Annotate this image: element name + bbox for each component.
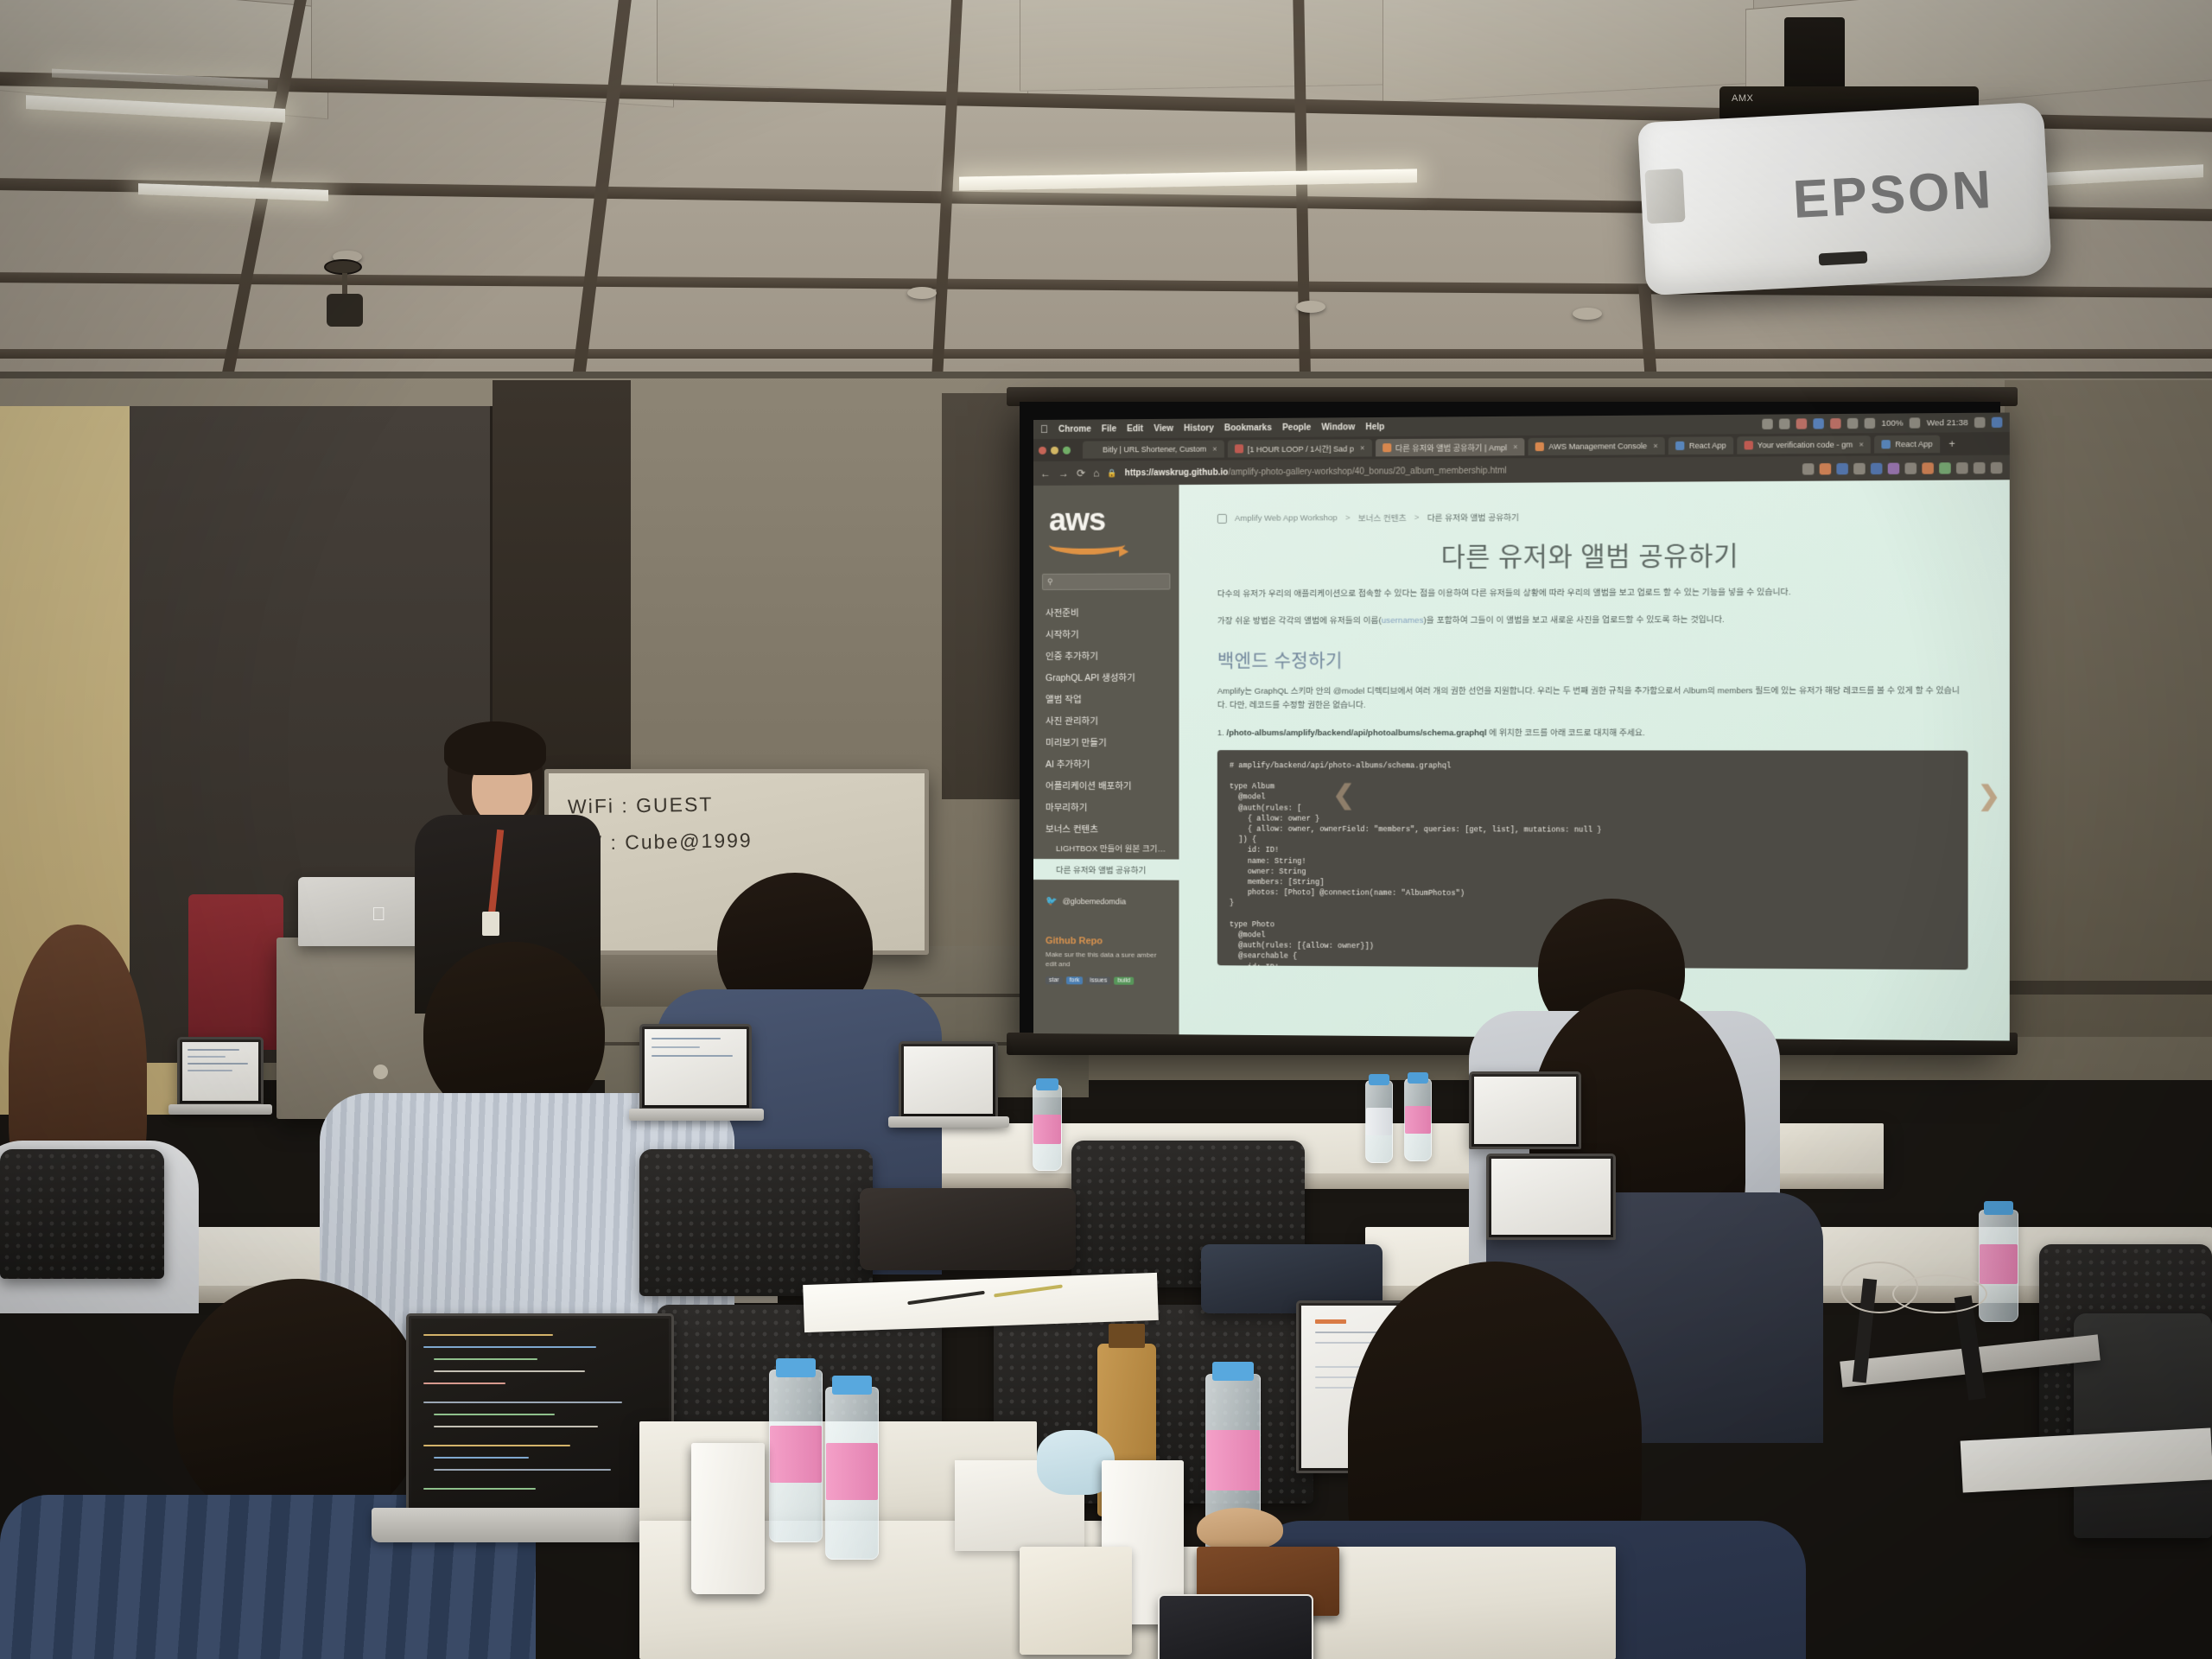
screen-text-line	[652, 1038, 721, 1039]
screen-text-line	[188, 1070, 232, 1071]
menu-bookmarks[interactable]: Bookmarks	[1224, 423, 1272, 432]
sidebar-item-wrap-up[interactable]: 마무리하기	[1033, 797, 1179, 818]
menu-history[interactable]: History	[1184, 423, 1214, 433]
aws-favicon	[1535, 442, 1544, 451]
browser-tab[interactable]: [1 HOUR LOOP / 1시간] Sad p ×	[1228, 439, 1372, 457]
bookmark-star-icon[interactable]	[1802, 463, 1814, 474]
paper-cup	[691, 1443, 765, 1594]
close-tab-button[interactable]: ×	[1360, 443, 1364, 452]
aws-logo[interactable]: aws	[1033, 493, 1179, 563]
bottle-cap	[776, 1358, 816, 1377]
extension-toolbar	[1802, 461, 2002, 474]
sidebar-item-prep[interactable]: 사전준비	[1033, 602, 1179, 625]
screen-text-line	[423, 1488, 536, 1490]
docs-sidebar[interactable]: aws ⚲ 사전준비 시작하기 인증 추가하기 GraphQL API 생성하기…	[1033, 485, 1179, 1034]
browser-tab[interactable]: Bitly | URL Shortener, Custom ×	[1083, 440, 1224, 458]
badge-fork[interactable]: fork	[1066, 976, 1084, 984]
home-button[interactable]: ⌂	[1093, 467, 1099, 480]
extension-icon[interactable]	[1871, 462, 1883, 474]
ceiling-sensor	[327, 294, 363, 327]
bottle-label	[826, 1443, 878, 1500]
tab-label: 다른 유저와 앨범 공유하기 | Ampl	[1395, 442, 1507, 454]
tab-label: [1 HOUR LOOP / 1시간] Sad p	[1248, 442, 1354, 454]
laptop-screen	[904, 1046, 993, 1114]
sidebar-item-create-preview[interactable]: 미리보기 만들기	[1033, 732, 1179, 753]
bottle-cap	[1984, 1201, 2013, 1215]
control-center-icon[interactable]	[1992, 417, 2003, 428]
bitly-favicon	[1090, 445, 1098, 454]
sidebar-item-add-ai[interactable]: AI 추가하기	[1033, 753, 1179, 775]
wall-trim	[1987, 981, 2212, 995]
bottle-cap	[1408, 1072, 1428, 1084]
menu-file[interactable]: File	[1102, 424, 1116, 434]
breadcrumb-separator: >	[1345, 513, 1351, 523]
tab-label: AWS Management Console	[1548, 442, 1647, 451]
laptop-base	[888, 1116, 1009, 1128]
sidebar-twitter-link[interactable]: 🐦 @globemedomdia	[1033, 895, 1179, 907]
reload-button[interactable]: ⟳	[1077, 467, 1085, 480]
tab-label: React App	[1895, 440, 1932, 449]
forward-button[interactable]: →	[1058, 467, 1069, 480]
webpage-body: aws ⚲ 사전준비 시작하기 인증 추가하기 GraphQL API 생성하기…	[1033, 480, 2010, 1040]
bottle-label	[1033, 1115, 1061, 1144]
browser-tab[interactable]: AWS Management Console ×	[1529, 437, 1665, 455]
mail-favicon	[1744, 441, 1752, 449]
breadcrumb-root[interactable]: Amplify Web App Workshop	[1235, 513, 1338, 524]
classroom-scene: AMX EPSON  Chrome File Edit View Histor…	[0, 0, 2212, 1659]
twitter-handle: @globemedomdia	[1063, 897, 1126, 906]
laptop-screen	[1491, 1159, 1611, 1235]
bottle-label	[770, 1426, 822, 1483]
badge-star[interactable]: star	[1046, 976, 1063, 984]
menu-view[interactable]: View	[1154, 423, 1173, 433]
maximize-window-button[interactable]	[1063, 446, 1071, 454]
screen-text-line	[188, 1049, 239, 1051]
menu-people[interactable]: People	[1282, 423, 1311, 432]
bottle-cap	[1212, 1362, 1254, 1381]
breadcrumb-parent[interactable]: 보너스 컨텐츠	[1358, 512, 1407, 524]
smoke-detector-icon	[1296, 301, 1325, 313]
breadcrumb-current: 다른 유저와 앨범 공유하기	[1427, 511, 1519, 524]
app-status-icon[interactable]	[1813, 418, 1823, 429]
projected-browser-window[interactable]:  Chrome File Edit View History Bookmark…	[1033, 412, 2010, 1040]
screen-text-line	[188, 1056, 226, 1058]
wall-trim	[0, 372, 2212, 378]
laptop	[1469, 1071, 1581, 1149]
screen-text-line	[423, 1346, 596, 1348]
projector-lens	[1644, 168, 1685, 224]
browser-tab[interactable]: React App	[1874, 435, 1940, 454]
sidebar-nav[interactable]: 사전준비 시작하기 인증 추가하기 GraphQL API 생성하기 앨범 작업…	[1033, 599, 1179, 880]
sidebar-repo-badges: star fork issues build	[1033, 976, 1179, 985]
apple-logo-icon[interactable]: 	[1040, 423, 1048, 435]
extension-icon[interactable]	[1853, 462, 1866, 474]
badge-issues[interactable]: issues	[1086, 976, 1110, 984]
projector-mount-brand: AMX	[1732, 93, 1753, 104]
laptop	[899, 1041, 998, 1119]
projector-brand-label: EPSON	[1791, 159, 1994, 231]
step-file-path: /photo-albums/amplify/backend/api/photoa…	[1226, 728, 1486, 738]
screen-text-line	[423, 1402, 622, 1403]
podium-knob	[373, 1065, 388, 1079]
step-number: 1.	[1217, 728, 1227, 738]
screen-text-line	[434, 1457, 529, 1459]
youtube-favicon	[1235, 444, 1243, 453]
lock-icon: 🔒	[1107, 468, 1116, 478]
chrome-menu-icon[interactable]	[1991, 461, 2003, 473]
projector-mount	[1784, 17, 1845, 92]
tab-label: Your verification code - gm	[1758, 440, 1853, 449]
sidebar-item-album-work[interactable]: 앨범 작업	[1033, 689, 1179, 710]
apple-logo-icon: 	[372, 903, 386, 925]
close-tab-button[interactable]: ×	[1653, 442, 1657, 450]
breadcrumb[interactable]: Amplify Web App Workshop > 보너스 컨텐츠 > 다른 …	[1217, 508, 1968, 524]
bottle-cap	[832, 1376, 872, 1395]
recording-icon[interactable]	[1830, 418, 1840, 429]
screen-text-line	[652, 1046, 700, 1048]
screen-text-line	[434, 1370, 585, 1372]
screen-text-line	[423, 1382, 505, 1384]
sidebar-item-lightbox[interactable]: LIGHTBOX 만들어 원본 크기의 사진 보기	[1033, 840, 1179, 859]
extension-icon[interactable]	[1922, 462, 1934, 474]
laptop	[639, 1024, 752, 1110]
extension-icon[interactable]	[1888, 462, 1900, 474]
laptop-screen	[645, 1029, 747, 1105]
search-icon[interactable]	[1974, 417, 1986, 428]
sidebar-search-input[interactable]: ⚲	[1042, 574, 1170, 591]
attendee-head	[173, 1279, 423, 1529]
menu-bar-status-items: 100% Wed 21:38	[1762, 417, 2002, 429]
smoke-detector-icon	[907, 287, 937, 299]
close-tab-button[interactable]: ×	[1513, 442, 1517, 451]
ceiling-tile	[1020, 0, 1391, 92]
window-controls[interactable]	[1039, 446, 1071, 454]
laptop-screen	[182, 1042, 258, 1101]
menu-chrome[interactable]: Chrome	[1058, 424, 1091, 434]
red-chair	[188, 894, 283, 1050]
laptop[interactable]	[406, 1313, 674, 1512]
intro-paragraph-1: 다수의 유저가 우리의 애플리케이션으로 접속할 수 있다는 점을 이용하여 다…	[1217, 586, 1968, 601]
aws-smile-icon	[1049, 536, 1125, 555]
paragraph-pre: 가장 쉬운 방법은 각각의 앨범에 유저들의 이름(	[1217, 616, 1382, 626]
aws-logo-text: aws	[1049, 505, 1179, 534]
alfred-icon[interactable]	[1796, 418, 1807, 429]
cable-coil	[1892, 1274, 1987, 1313]
smartphone[interactable]	[1158, 1594, 1313, 1659]
smoke-detector-icon	[1573, 308, 1602, 320]
tab-label: Bitly | URL Shortener, Custom	[1103, 445, 1206, 454]
badge-build[interactable]: build	[1114, 976, 1134, 984]
screen-text-line	[652, 1055, 733, 1057]
sidebar-item-add-auth[interactable]: 인증 추가하기	[1033, 645, 1179, 667]
bottle-label	[1405, 1106, 1431, 1134]
aws-favicon	[1382, 443, 1391, 452]
twitter-icon: 🐦	[1046, 895, 1058, 906]
close-tab-button[interactable]: ×	[1859, 440, 1863, 448]
browser-tab-active[interactable]: 다른 유저와 앨범 공유하기 | Ampl ×	[1376, 438, 1525, 456]
menu-edit[interactable]: Edit	[1127, 424, 1143, 434]
cloud-icon[interactable]	[1779, 418, 1789, 429]
url-input[interactable]: https://awskrug.github.io/amplify-photo-…	[1125, 466, 1507, 478]
tab-label: React App	[1689, 441, 1726, 449]
sidebar-item-manage-photos[interactable]: 사진 관리하기	[1033, 710, 1179, 732]
menu-clock[interactable]: Wed 21:38	[1927, 417, 1968, 428]
ordered-step-1: 1. /photo-albums/amplify/backend/api/pho…	[1217, 726, 1968, 738]
search-icon: ⚲	[1047, 577, 1053, 587]
new-tab-button[interactable]: +	[1948, 438, 1955, 450]
pencil-pouch	[1020, 1547, 1132, 1655]
laptop-base	[168, 1104, 272, 1115]
wall-right-panel	[2005, 380, 2212, 1037]
browser-tab[interactable]: React App	[1669, 436, 1733, 454]
page-title: 다른 유저와 앨범 공유하기	[1217, 533, 1968, 575]
animal-figurine	[1197, 1508, 1283, 1551]
laptop-base	[629, 1109, 764, 1121]
screen-text-line	[423, 1334, 553, 1336]
bottle-cap	[1369, 1074, 1389, 1085]
paragraph-post: )을 포함하여 그들이 이 앨범을 보고 새로운 사진을 업로드할 수 있도록 …	[1424, 615, 1725, 626]
home-icon[interactable]	[1217, 513, 1227, 523]
sidebar-item-deploy-app[interactable]: 어플리케이션 배포하기	[1033, 775, 1179, 797]
screen-text-line	[188, 1063, 248, 1065]
step-suffix: 에 위치한 코드를 아래 코드로 대치해 주세요.	[1487, 728, 1645, 738]
battery-icon[interactable]	[1910, 417, 1921, 428]
screen-text-line	[434, 1469, 611, 1471]
browser-tab[interactable]: Your verification code - gm ×	[1737, 435, 1871, 454]
intro-paragraph-2: 가장 쉬운 방법은 각각의 앨범에 유저들의 이름(usernames)을 포함…	[1217, 613, 1968, 628]
presenter-hair	[444, 721, 546, 775]
extension-icon[interactable]	[1905, 462, 1917, 474]
ceiling-tile	[657, 0, 1028, 97]
extension-icon[interactable]	[1820, 463, 1832, 474]
menu-window[interactable]: Window	[1321, 423, 1355, 432]
laptop-screen	[411, 1319, 669, 1507]
laptop-screen	[1474, 1077, 1576, 1144]
presenter-badge	[482, 912, 499, 936]
url-host: https://awskrug.github.io	[1125, 467, 1229, 478]
ceiling-rail	[0, 349, 2212, 359]
screen-text-line	[434, 1358, 537, 1360]
chair	[639, 1149, 873, 1296]
battery-percent: 100%	[1881, 418, 1903, 428]
screen-text-line	[434, 1414, 555, 1415]
dropbox-icon[interactable]	[1762, 419, 1772, 429]
extension-icon[interactable]	[1956, 462, 1968, 474]
breadcrumb-separator: >	[1414, 512, 1420, 522]
sidebar-repo-title[interactable]: Github Repo	[1033, 936, 1179, 947]
prev-page-arrow-icon[interactable]: ❮	[1332, 779, 1355, 810]
projector-vent	[1819, 251, 1868, 266]
backend-paragraph: Amplify는 GraphQL 스키마 안의 @model 디렉티브에서 여러…	[1217, 684, 1968, 711]
next-page-arrow-icon[interactable]: ❯	[1978, 780, 2000, 811]
back-button[interactable]: ←	[1040, 467, 1051, 480]
screen-text-line	[434, 1426, 598, 1427]
bottle-label	[1206, 1430, 1260, 1491]
url-path: /amplify-photo-gallery-workshop/40_bonus…	[1228, 466, 1506, 477]
menu-help[interactable]: Help	[1365, 422, 1384, 431]
extension-icon[interactable]	[1836, 462, 1848, 474]
react-favicon	[1882, 440, 1891, 448]
sidebar-repo-desc: Make sur the this data a sure amber edit…	[1033, 946, 1179, 969]
screen-logo-mark	[1315, 1319, 1346, 1324]
bottle-cap	[1036, 1078, 1058, 1090]
profile-avatar[interactable]	[1974, 461, 1986, 473]
laptop-bag	[860, 1188, 1076, 1270]
inline-code-usernames: usernames	[1382, 615, 1424, 625]
bottle-cap	[1109, 1324, 1145, 1348]
close-tab-button[interactable]: ×	[1212, 445, 1217, 454]
section-heading-backend: 백엔드 수정하기	[1217, 645, 1968, 673]
chair	[0, 1149, 164, 1279]
wifi-icon[interactable]	[1865, 418, 1875, 429]
sidebar-item-bonus-content[interactable]: 보너스 컨텐츠	[1033, 818, 1179, 840]
sidebar-item-getting-started[interactable]: 시작하기	[1033, 624, 1179, 645]
bottle-label	[1980, 1244, 2018, 1284]
close-window-button[interactable]	[1039, 446, 1046, 454]
screen-text-line	[423, 1445, 570, 1446]
react-favicon	[1675, 442, 1684, 450]
extension-icon[interactable]	[1939, 462, 1951, 474]
display-icon[interactable]	[1847, 418, 1858, 429]
minimize-window-button[interactable]	[1051, 446, 1058, 454]
bottle-label	[1366, 1108, 1392, 1135]
sidebar-item-share-album[interactable]: 다른 유저와 앨범 공유하기	[1033, 859, 1179, 880]
sidebar-item-create-graphql-api[interactable]: GraphQL API 생성하기	[1033, 667, 1179, 689]
laptop	[177, 1037, 264, 1106]
laptop	[1486, 1154, 1616, 1240]
